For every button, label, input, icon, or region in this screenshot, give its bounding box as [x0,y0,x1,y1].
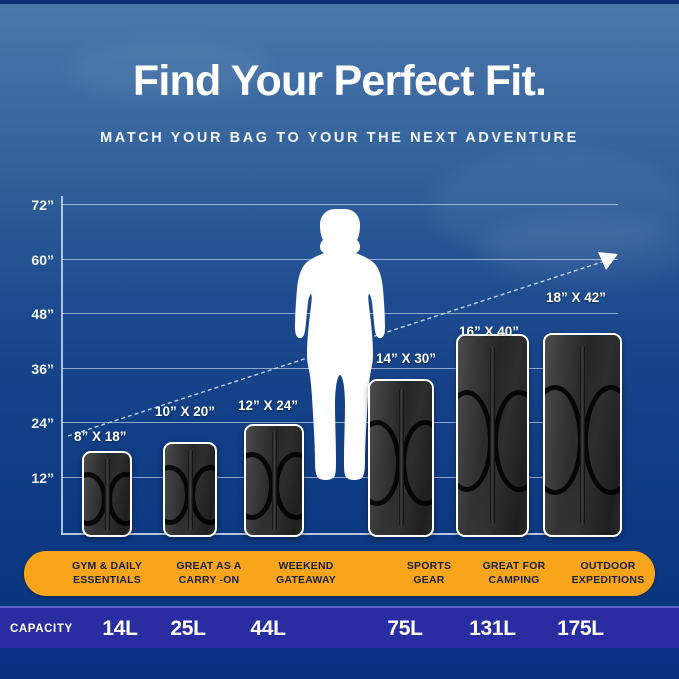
capacity-value-6: 175L [538,608,623,650]
capacity-value-2: 25L [148,608,228,650]
bag-dimension-5: 16” X 40” [459,324,519,339]
use-case-5-line2: CAMPING [489,574,540,586]
capacity-value-3: 44L [228,608,308,650]
bag-dimension-4: 14” X 30” [376,351,436,366]
capacity-value-5: 131L [450,608,535,650]
capacity-value-4: 75L [365,608,445,650]
use-case-3-line1: WEEKEND [278,560,333,572]
bag-dimension-1: 8” X 18” [74,429,127,444]
capacity-bar: CAPACITY 14L 25L 44L 75L 131L 175L [0,606,679,652]
use-case-6-line2: EXPEDITIONS [572,574,645,586]
bag-bar-1[interactable] [82,451,132,537]
use-case-1-line1: GYM & DAILY [72,560,142,572]
use-case-5-line1: GREAT FOR [483,560,546,572]
bag-arc-right [583,385,623,495]
bag-bar-5[interactable] [456,334,529,537]
bag-arc-right [190,465,217,525]
use-case-3[interactable]: WEEKEND GATEAWAY [246,551,366,596]
footer-band [0,648,679,679]
use-case-6[interactable]: OUTDOOR EXPEDITIONS [548,551,668,596]
bag-spine [272,431,277,529]
y-tick-12: 12” [8,470,54,486]
bag-arc-right [493,390,530,492]
top-border [0,0,679,4]
bag-spine [490,346,495,525]
y-tick-48: 48” [8,306,54,322]
bag-dimension-3: 12” X 24” [238,398,298,413]
y-tick-24: 24” [8,415,54,431]
use-case-1[interactable]: GYM & DAILY ESSENTIALS [52,551,162,596]
bag-bar-3[interactable] [244,424,304,537]
use-case-2-line1: GREAT AS A [176,560,241,572]
bag-arc-right [401,420,434,506]
bag-bar-6[interactable] [543,333,622,537]
bag-bar-2[interactable] [163,442,217,537]
bag-dimension-2: 10” X 20” [155,404,215,419]
bag-arc-right [274,452,304,520]
use-case-4-line1: SPORTS [407,560,451,572]
bag-spine [580,345,585,525]
infographic-canvas: Find Your Perfect Fit. MATCH YOUR BAG TO… [0,0,679,679]
bag-dimension-6: 18” X 42” [546,290,606,305]
page-title: Find Your Perfect Fit. [0,60,679,103]
bag-spine [105,457,110,531]
y-tick-72: 72” [8,197,54,213]
bag-bar-4[interactable] [368,379,434,537]
bag-spine [188,449,193,531]
use-case-bar: GYM & DAILY ESSENTIALS GREAT AS A CARRY … [24,551,655,596]
bag-arc-right [107,472,132,526]
use-case-1-line2: ESSENTIALS [73,574,141,586]
bag-spine [399,389,404,528]
use-case-4-line2: GEAR [413,574,444,586]
page-subtitle: MATCH YOUR BAG TO YOUR THE NEXT ADVENTUR… [0,130,679,146]
y-tick-60: 60” [8,252,54,268]
y-tick-36: 36” [8,361,54,377]
use-case-2-line2: CARRY -ON [179,574,240,586]
capacity-label: CAPACITY [10,608,90,650]
use-case-6-line1: OUTDOOR [580,560,635,572]
use-case-3-line2: GATEAWAY [276,574,336,586]
